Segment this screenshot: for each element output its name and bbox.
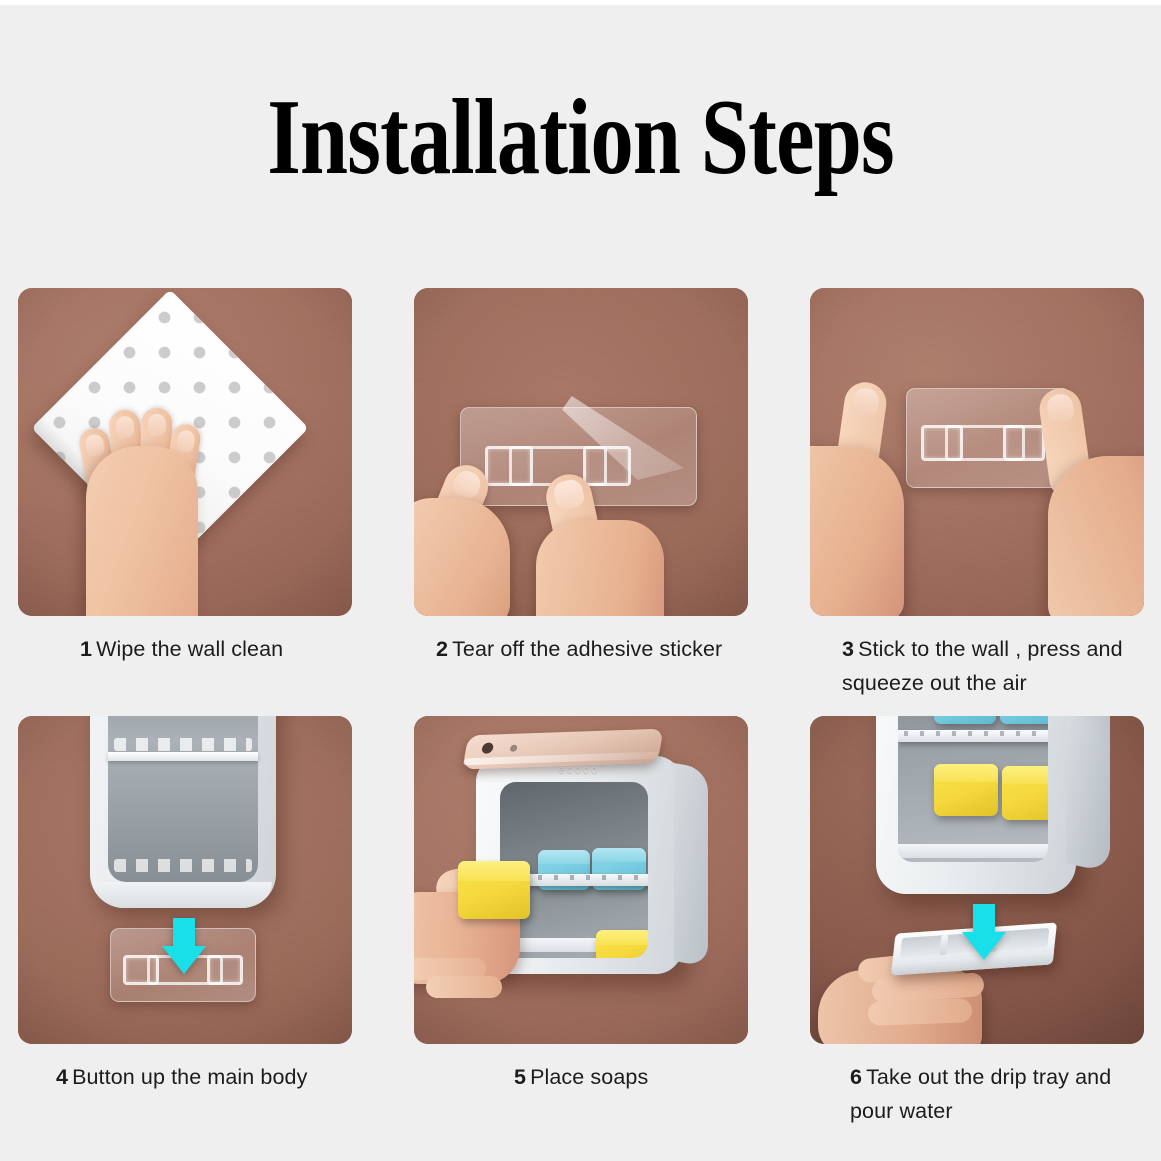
thumbnail — [552, 478, 586, 511]
holder-body — [90, 716, 276, 908]
palm — [1048, 456, 1144, 616]
holder-shelf — [108, 752, 258, 761]
step-3-caption: 3Stick to the wall , press and squeeze o… — [810, 632, 1144, 700]
step-5-label: Place soaps — [530, 1065, 648, 1089]
sticker-slot-left — [921, 425, 963, 461]
step-6-number: 6 — [850, 1065, 862, 1089]
smartphone-on-top — [462, 729, 663, 770]
right-hand — [526, 474, 676, 616]
fingernail — [84, 433, 106, 458]
down-arrow-icon — [162, 918, 206, 976]
step-2-caption: 2Tear off the adhesive sticker — [414, 632, 748, 666]
holder-side-panel — [674, 763, 708, 967]
step-4-number: 4 — [56, 1065, 68, 1089]
step-1-label: Wipe the wall clean — [96, 637, 283, 661]
fingernail — [147, 414, 166, 437]
step-1-number: 1 — [80, 637, 92, 661]
step-2-photo — [414, 288, 748, 616]
finger — [426, 976, 502, 998]
soap-blue — [1000, 716, 1048, 724]
step-6-label: Take out the drip tray and pour water — [850, 1065, 1111, 1123]
soap-yellow-in-hand — [458, 861, 530, 919]
phone-camera-icon — [481, 742, 494, 753]
palm — [536, 520, 664, 616]
left-hand — [810, 380, 918, 616]
finger — [868, 998, 973, 1026]
palm — [414, 498, 510, 616]
fingernail — [175, 429, 196, 453]
installation-steps-page: Installation Steps 1Wi — [0, 0, 1161, 1161]
sticker-slot-right — [207, 955, 243, 985]
step-4-caption: 4Button up the main body — [18, 1060, 352, 1094]
sticker-slot-left — [123, 955, 159, 985]
right-hand — [1038, 384, 1144, 616]
step-5-caption: 5Place soaps — [414, 1060, 748, 1094]
holder-shelf — [898, 730, 1048, 742]
palm — [86, 446, 198, 616]
step-3: 3Stick to the wall , press and squeeze o… — [810, 288, 1144, 700]
thumbnail — [1046, 393, 1076, 424]
phone-highlight — [463, 752, 660, 766]
step-4-label: Button up the main body — [72, 1065, 307, 1089]
step-1: 1Wipe the wall clean — [18, 288, 352, 700]
holder-floor — [898, 844, 1048, 858]
fingernail — [115, 415, 135, 439]
step-4: 4Button up the main body — [18, 716, 352, 1128]
soap-holder — [876, 716, 1076, 894]
step-3-number: 3 — [842, 637, 854, 661]
steps-grid: 1Wipe the wall clean — [18, 288, 1144, 1128]
holder-bottom-lip — [94, 882, 272, 908]
step-2: 2Tear off the adhesive sticker — [414, 288, 748, 700]
wiping-hand — [80, 406, 206, 616]
step-5-photo: ecoco — [414, 716, 748, 1044]
step-1-photo — [18, 288, 352, 616]
thumbnail — [851, 387, 881, 418]
soap-yellow — [596, 930, 648, 958]
holder-side-panel — [1066, 716, 1110, 873]
step-5-number: 5 — [514, 1065, 526, 1089]
step-2-label: Tear off the adhesive sticker — [452, 637, 722, 661]
drain-slots-lower — [114, 859, 252, 872]
step-6: 6Take out the drip tray and pour water — [810, 716, 1144, 1128]
step-2-number: 2 — [436, 637, 448, 661]
thumbnail — [450, 467, 484, 501]
step-3-label: Stick to the wall , press and squeeze ou… — [842, 637, 1123, 695]
page-title: Installation Steps — [116, 78, 1045, 198]
soap-yellow — [1002, 766, 1048, 820]
step-1-caption: 1Wipe the wall clean — [18, 632, 352, 666]
down-arrow-icon — [962, 904, 1006, 962]
left-hand — [414, 464, 524, 616]
soap-blue — [934, 716, 996, 724]
soap-yellow — [934, 764, 998, 816]
palm — [810, 446, 904, 616]
step-5: ecoco — [414, 716, 748, 1128]
step-4-photo — [18, 716, 352, 1044]
step-6-photo — [810, 716, 1144, 1044]
step-3-photo — [810, 288, 1144, 616]
top-white-strip — [0, 0, 1161, 5]
drain-slots-upper — [114, 738, 252, 751]
holder-cavity — [898, 716, 1048, 862]
step-6-caption: 6Take out the drip tray and pour water — [810, 1060, 1144, 1128]
